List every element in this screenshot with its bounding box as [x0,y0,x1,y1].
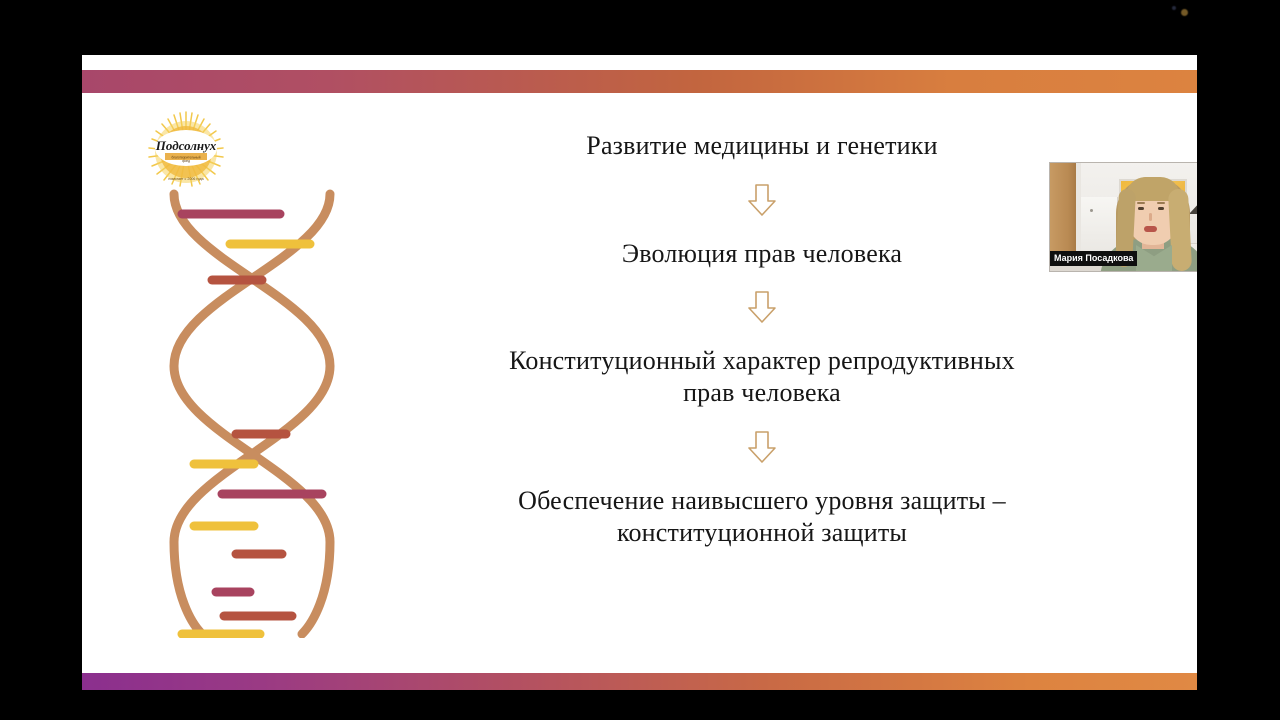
down-arrow-icon-2 [412,287,1112,327]
down-arrow-icon-1 [412,180,1112,220]
svg-text:Подсолнух: Подсолнух [155,138,217,153]
svg-text:фонд: фонд [182,159,190,163]
presentation-slide: Подсолнух благотворительный фонд помогае… [82,55,1197,690]
slide-top-accent-bar [82,70,1197,93]
flow-step-2-text: Эволюция прав человека [412,238,1112,270]
webcam-video-thumbnail[interactable]: Мария Посадкова [1049,162,1197,272]
svg-text:помогает с 2006 года: помогает с 2006 года [168,177,203,181]
corner-indicator-dot [1181,9,1188,16]
dna-helix-illustration [152,188,352,638]
screen-root: Подсолнух благотворительный фонд помогае… [0,0,1280,720]
flow-diagram: Развитие медицины и генетики Эволюция пр… [412,130,1112,548]
flow-step-4-text: Обеспечение наивысшего уровня защиты – к… [412,485,1112,548]
flow-step-3-text: Конституционный характер репродуктивных … [412,345,1112,408]
slide-bottom-accent-bar [82,673,1197,690]
participant-name-label: Мария Посадкова [1050,251,1137,266]
sunflower-logo-icon: Подсолнух благотворительный фонд помогае… [138,108,234,196]
down-arrow-icon-3 [412,427,1112,467]
flow-step-1-text: Развитие медицины и генетики [412,130,1112,162]
corner-indicator-dot-secondary [1172,6,1176,10]
